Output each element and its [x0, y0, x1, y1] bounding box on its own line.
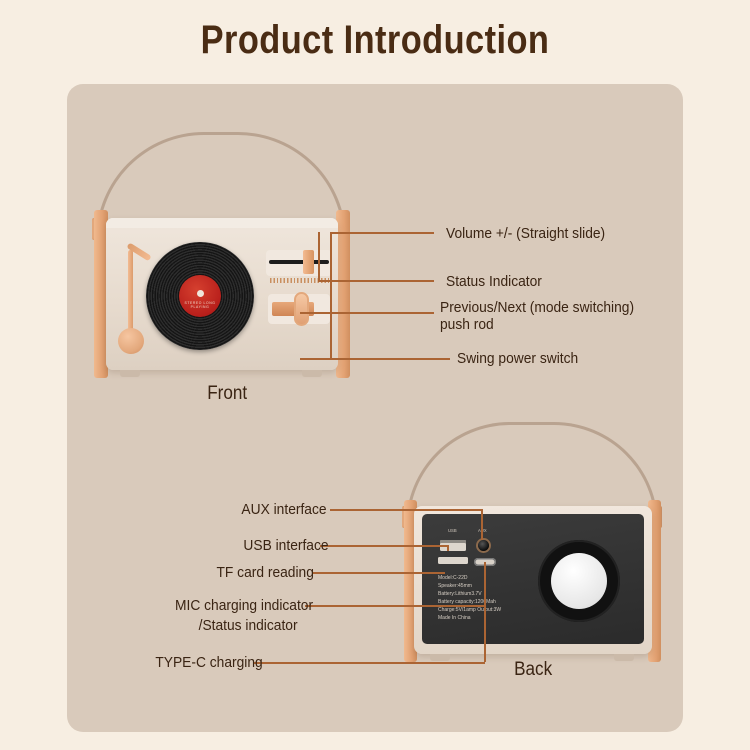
- record-label: STEREO LONG PLAYING: [179, 275, 221, 317]
- record-label-text: STEREO LONG PLAYING: [179, 301, 221, 309]
- leader-aux-v: [481, 509, 483, 540]
- front-top-strip: [106, 218, 338, 228]
- leader-usb-v: [447, 545, 449, 551]
- leader-tf-h: [313, 572, 445, 574]
- speaker-cone: [551, 553, 607, 609]
- volume-slider-track[interactable]: [269, 260, 329, 264]
- callout-status-indicator: Status Indicator: [446, 273, 542, 290]
- poster-stage: Product Introduction STEREO LONG PLAYING: [0, 0, 750, 750]
- front-caption: Front: [207, 383, 247, 405]
- tonearm-pivot: [118, 328, 144, 354]
- spec-line: Speaker:45mm: [438, 582, 501, 590]
- page-title: Product Introduction: [53, 18, 698, 63]
- aux-port[interactable]: [478, 540, 489, 551]
- leader-status: [318, 280, 434, 282]
- callout-usb-interface: USB interface: [243, 537, 328, 554]
- vinyl-record: STEREO LONG PLAYING: [146, 242, 254, 350]
- spec-line: Charge:5V/1amp Output:3W: [438, 606, 501, 614]
- callout-tf-card-reading: TF card reading: [216, 564, 313, 581]
- leader-mic-h: [305, 605, 485, 607]
- tonearm: [128, 250, 133, 336]
- callout-mic-charging-indicator: MIC charging indicator: [175, 597, 313, 614]
- front-foot-right: [302, 370, 322, 377]
- leader-volume: [330, 232, 434, 234]
- leader-power-switch: [300, 358, 450, 360]
- callout-type-c-charging: TYPE-C charging: [155, 654, 262, 671]
- leader-usb-h: [320, 545, 448, 547]
- leader-pushrod: [300, 312, 434, 314]
- back-product-illustration: USB TF AUX MIC TYPE-C Model:C-22D Speake…: [392, 422, 684, 672]
- front-foot-left: [120, 370, 140, 377]
- back-foot-right: [614, 654, 634, 661]
- speaker-driver: [538, 540, 620, 622]
- leader-typec-v: [484, 562, 486, 662]
- callout-push-rod-line1: Previous/Next (mode switching): [440, 299, 634, 316]
- spec-line: Battery:Lithium3.7V: [438, 590, 501, 598]
- push-rod-lever[interactable]: [294, 292, 309, 326]
- leader-typec-h: [253, 662, 485, 664]
- callout-status-indicator-secondary: /Status indicator: [199, 617, 298, 634]
- volume-slider-knob[interactable]: [303, 250, 314, 274]
- callout-volume: Volume +/- (Straight slide): [446, 225, 605, 242]
- front-side-trim-right: [336, 210, 350, 378]
- usb-port-label: USB: [448, 528, 457, 533]
- back-foot-left: [430, 654, 450, 661]
- leader-volume-drop: [318, 232, 320, 280]
- leader-vertical-front: [330, 232, 332, 360]
- back-caption: Back: [514, 659, 552, 681]
- leader-aux-h: [330, 509, 482, 511]
- callout-aux-interface: AUX interface: [241, 501, 326, 518]
- spindle-hole: [197, 290, 204, 297]
- spec-line: Made In China: [438, 614, 501, 622]
- spec-label-block: Model:C-22D Speaker:45mm Battery:Lithium…: [438, 574, 501, 623]
- tf-card-slot[interactable]: [438, 557, 468, 564]
- callout-push-rod-line2: push rod: [440, 316, 494, 333]
- spec-line: Model:C-22D: [438, 574, 501, 582]
- callout-swing-power-switch: Swing power switch: [457, 350, 578, 367]
